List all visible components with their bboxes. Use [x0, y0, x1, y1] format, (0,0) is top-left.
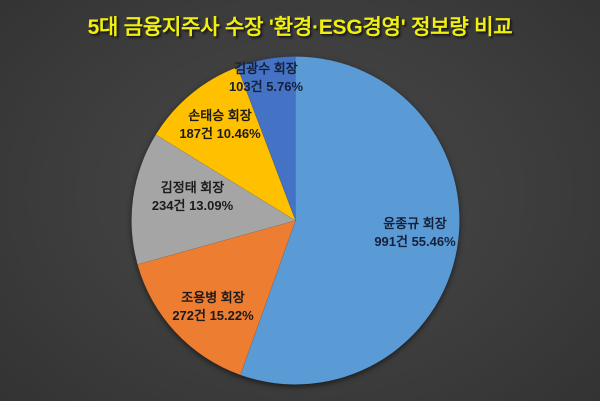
pie-chart	[131, 56, 460, 385]
page-title: 5대 금융지주사 수장 '환경·ESG경영' 정보량 비교	[0, 11, 600, 41]
chart-canvas: 5대 금융지주사 수장 '환경·ESG경영' 정보량 비교 윤종규 회장 991…	[0, 0, 600, 401]
pie-chart-svg	[131, 56, 460, 385]
